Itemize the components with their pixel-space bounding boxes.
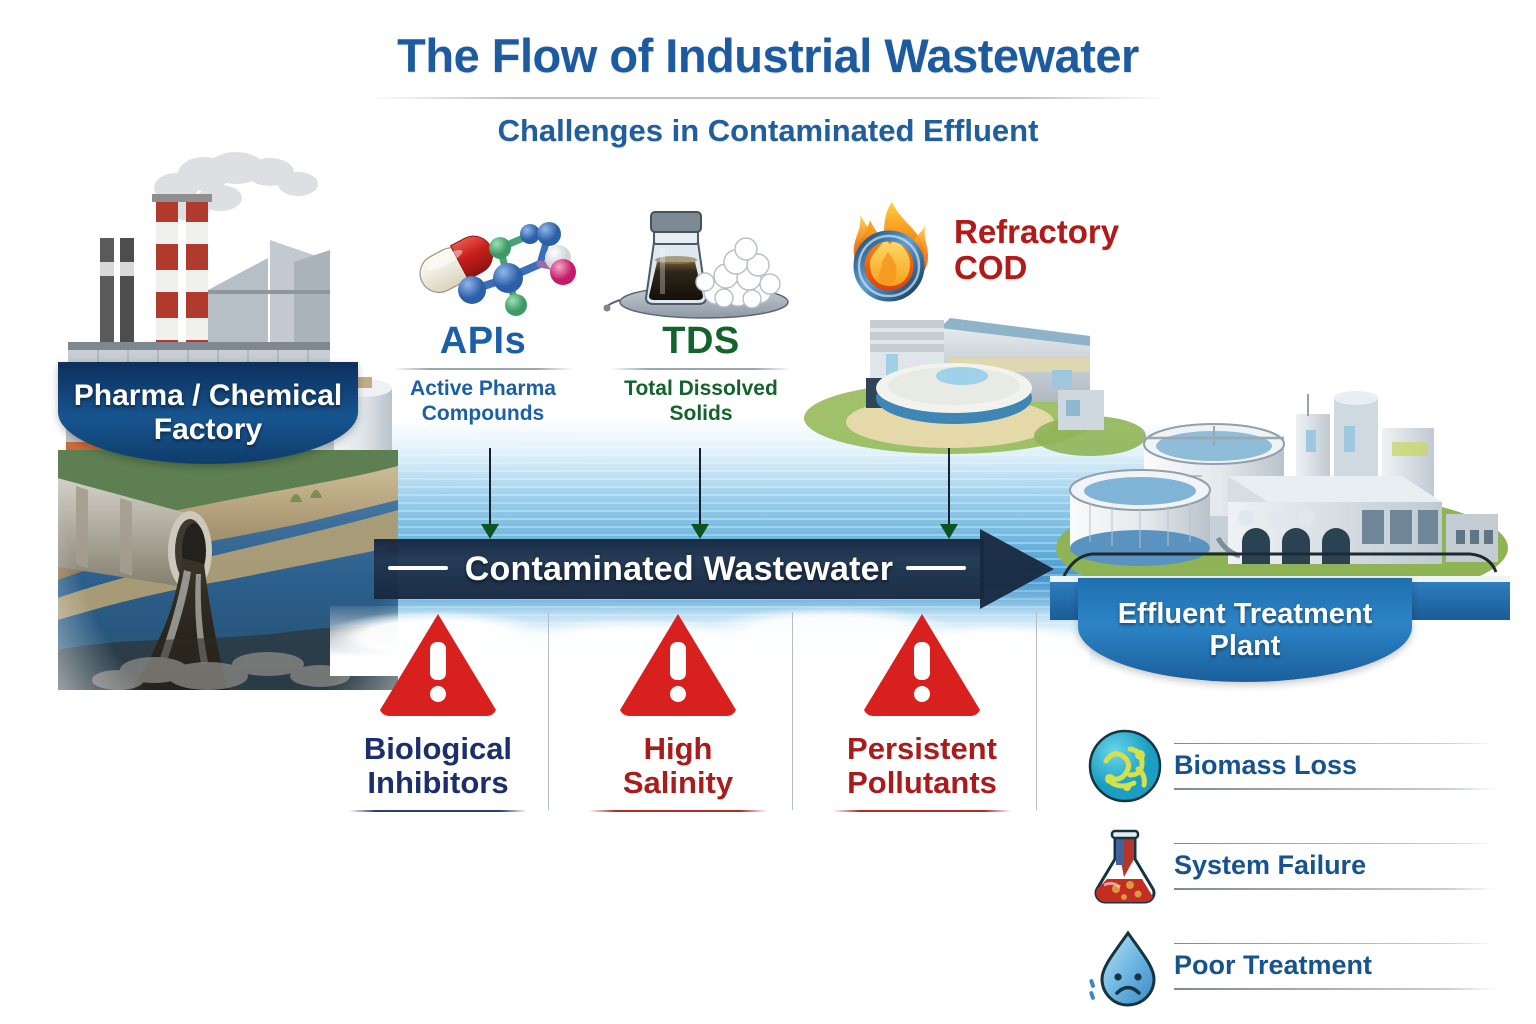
salt-crystals [696, 238, 780, 308]
smoke-plume [154, 152, 318, 221]
warning-underline [833, 810, 1011, 812]
source-banner: Pharma / ChemicalFactory [58, 362, 358, 464]
outcome-body: Biomass Loss [1174, 743, 1496, 790]
destination-label: Effluent TreatmentPlant [1118, 598, 1373, 663]
warning-triangle-icon [376, 610, 500, 718]
contaminant-cod-label: RefractoryCOD [954, 214, 1134, 285]
outcome-body: Poor Treatment [1174, 943, 1496, 990]
contaminant-apis: APIs Active PharmaCompounds [378, 320, 588, 427]
flow-label: Contaminated Wastewater [374, 539, 984, 599]
flow-arrow: Contaminated Wastewater [374, 533, 1054, 605]
outcome-line-top [1174, 743, 1496, 745]
outcome-line-top [1174, 843, 1496, 845]
outcome-line-bottom [1174, 888, 1496, 890]
outcomes-list: Biomass Loss System Failure [1086, 716, 1496, 1016]
destination-banner: Effluent TreatmentPlant [1078, 578, 1412, 682]
connector-cod [948, 448, 950, 526]
contaminant-tds-description: Total DissolvedSolids [596, 377, 806, 427]
warning-biological-inhibitors: BiologicalInhibitors [328, 610, 548, 812]
contaminant-apis-description: Active PharmaCompounds [378, 377, 588, 427]
warning-underline [589, 810, 767, 812]
outcome-system-failure: System Failure [1086, 816, 1496, 916]
title-divider [368, 97, 1168, 99]
outcome-line-top [1174, 943, 1496, 945]
microbe-circle-icon [1086, 727, 1164, 805]
pill-molecule-icon [408, 206, 582, 324]
outcome-line-bottom [1174, 988, 1496, 990]
connector-apis [489, 448, 491, 526]
header: The Flow of Industrial Wastewater Challe… [0, 28, 1536, 149]
warning-triangle-icon [616, 610, 740, 718]
salt-bottle-icon [604, 202, 796, 324]
outcome-line-bottom [1174, 788, 1496, 790]
warning-triangle-icon [860, 610, 984, 718]
page-title: The Flow of Industrial Wastewater [0, 28, 1536, 83]
warning-divider-1 [548, 612, 549, 810]
outcome-biomass-loss-label: Biomass Loss [1174, 748, 1496, 784]
warning-underline [349, 810, 527, 812]
outcome-biomass-loss: Biomass Loss [1086, 716, 1496, 816]
contaminant-apis-divider [393, 368, 573, 370]
factory-roof [208, 240, 330, 350]
source-label: Pharma / ChemicalFactory [74, 379, 342, 446]
warning-divider-3 [1036, 612, 1037, 810]
contaminant-tds: TDS Total DissolvedSolids [596, 320, 806, 427]
contaminant-apis-abbr: APIs [378, 320, 588, 363]
flow-arrow-head [980, 529, 1054, 609]
contaminant-tds-abbr: TDS [596, 320, 806, 363]
warning-persistent-pollutants: PersistentPollutants [812, 610, 1032, 812]
outcome-system-failure-label: System Failure [1174, 848, 1496, 884]
connector-tds [699, 448, 701, 526]
page-subtitle: Challenges in Contaminated Effluent [0, 113, 1536, 149]
warning-high-salinity: HighSalinity [568, 610, 788, 812]
warning-biological-inhibitors-label: BiologicalInhibitors [328, 732, 548, 800]
contaminant-cod: RefractoryCOD [836, 198, 1126, 310]
flame-ring-icon [836, 198, 948, 310]
outcome-poor-treatment-label: Poor Treatment [1174, 948, 1496, 984]
warning-divider-2 [792, 612, 793, 810]
sad-water-drop-icon [1086, 927, 1164, 1005]
warning-persistent-pollutants-label: PersistentPollutants [812, 732, 1032, 800]
outcome-poor-treatment: Poor Treatment [1086, 916, 1496, 1016]
warning-high-salinity-label: HighSalinity [568, 732, 788, 800]
infographic-canvas: The Flow of Industrial Wastewater Challe… [0, 0, 1536, 1024]
outcome-body: System Failure [1174, 843, 1496, 890]
contaminant-tds-divider [611, 368, 791, 370]
erlenmeyer-flask-icon [1086, 827, 1164, 905]
